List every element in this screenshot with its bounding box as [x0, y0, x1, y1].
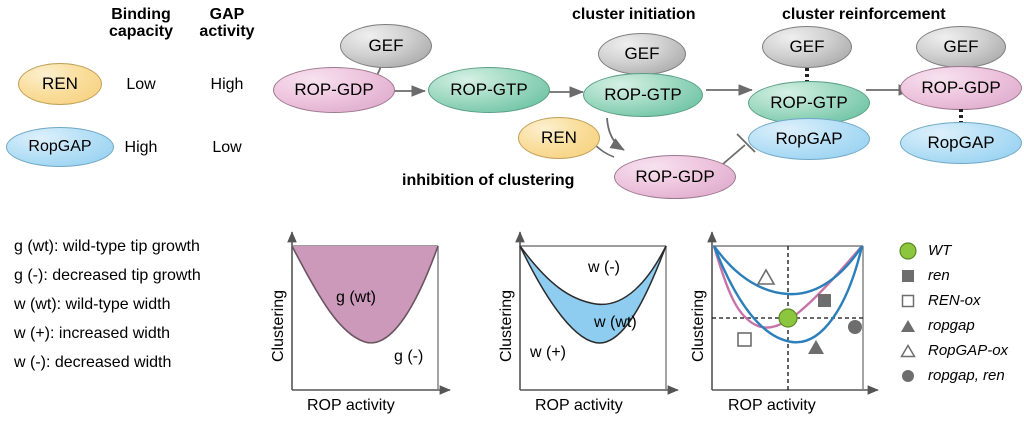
gef-label-4: GEF [944, 37, 979, 57]
gef-label-3: GEF [790, 37, 825, 57]
ropgap-ren-circle-icon [898, 366, 918, 386]
plot3-x-axis-label: ROP activity [728, 397, 816, 415]
gef-label-2: GEF [625, 44, 660, 64]
rop-gtp-ellipse: ROP-GTP [428, 67, 550, 113]
rop-gdp-label-1: ROP-GDP [294, 80, 373, 100]
legend-label-ropgap: ropgap [928, 317, 975, 334]
rop-gtp-label-3: ROP-GTP [770, 93, 847, 113]
rop-gdp-ellipse-inhibitor: ROP-GDP [614, 155, 736, 199]
phenotype-key-item: w (wt): wild-type width [14, 290, 201, 319]
plot1-x-axis-label: ROP activity [307, 397, 395, 415]
plot2-label-wwt: w (wt) [594, 314, 637, 332]
plot3-marker-ren [818, 294, 831, 307]
ropgap-ellipse-reinforcement: RopGAP [748, 118, 870, 160]
ropgap-triangle-icon [898, 316, 918, 336]
plot-2-width: w (-) w (wt) w (+) Clustering ROP activi… [478, 222, 698, 422]
legend-label-ropgap-ren: ropgap, ren [928, 367, 1005, 384]
plot3-marker-ropgap [808, 340, 824, 354]
rop-gtp-label-2: ROP-GTP [604, 85, 681, 105]
phenotype-key-item: w (-): decreased width [14, 348, 201, 377]
plot2-y-axis-label: Clustering [498, 290, 516, 362]
phenotype-key-item: g (wt): wild-type tip growth [14, 232, 201, 261]
gef-ellipse-initiation: GEF [598, 33, 686, 75]
plot3-marker-ropgap-ren [848, 320, 862, 334]
plot3-marker-wt [779, 309, 797, 327]
rop-gdp-ellipse-final: ROP-GDP [900, 66, 1022, 110]
legend-row-ropgap-ox: RopGAP-ox [898, 338, 1008, 363]
plot2-label-wplus: w (+) [530, 344, 566, 362]
rop-gdp-label-3: ROP-GDP [921, 78, 1000, 98]
wt-circle-icon [898, 241, 918, 261]
rop-gtp-ellipse-initiation: ROP-GTP [583, 73, 703, 117]
phenotype-key-item: w (+): increased width [14, 319, 201, 348]
plot1-label-gminus: g (-) [394, 348, 423, 366]
plot1-y-axis-label: Clustering [270, 290, 288, 362]
plot3-marker-ropgap-ox [758, 270, 774, 284]
gef-ellipse-reinforcement: GEF [762, 26, 852, 68]
rop-gtp-label-1: ROP-GTP [450, 80, 527, 100]
legend-row-ren-ox: REN-ox [898, 288, 1008, 313]
plot2-label-wminus: w (-) [588, 259, 620, 277]
ropgap-ox-triangle-open-icon [898, 341, 918, 361]
rop-gdp-label-2: ROP-GDP [635, 167, 714, 187]
phenotype-key: g (wt): wild-type tip growth g (-): decr… [14, 232, 201, 377]
plot3-y-axis-label: Clustering [690, 290, 708, 362]
ren-label-2: REN [541, 128, 577, 148]
legend-row-ropgap: ropgap [898, 313, 1008, 338]
legend-label-ropgap-ox: RopGAP-ox [928, 342, 1008, 359]
ren-square-icon [898, 266, 918, 286]
legend-label-wt: WT [928, 242, 951, 259]
plot3-marker-ren-ox [738, 333, 751, 346]
plot2-x-axis-label: ROP activity [535, 397, 623, 415]
genotype-legend: WT ren REN-ox ropgap RopGAP-ox ropgap, r… [898, 238, 1008, 388]
plot1-label-gwt: g (wt) [336, 289, 376, 307]
gef-label-1: GEF [369, 36, 404, 56]
rop-gdp-ellipse-start: ROP-GDP [273, 67, 395, 113]
legend-row-ren: ren [898, 263, 1008, 288]
gef-ellipse-final: GEF [916, 26, 1006, 68]
gef-ellipse-start: GEF [340, 24, 432, 68]
ropgap-label-2: RopGAP [775, 129, 842, 149]
arrow-gtp-hydrolysis [607, 118, 624, 150]
ren-ox-square-open-icon [898, 291, 918, 311]
ren-ellipse-pathway: REN [518, 117, 600, 159]
ropgap-label-3: RopGAP [927, 133, 994, 153]
legend-row-wt: WT [898, 238, 1008, 263]
legend-row-ropgap-ren: ropgap, ren [898, 363, 1008, 388]
plot-1-tip-growth: g (wt) g (-) Clustering ROP activity [250, 222, 470, 422]
legend-label-ren-ox: REN-ox [928, 292, 981, 309]
plot-3-genotypes: Clustering ROP activity [700, 222, 890, 422]
phenotype-key-item: g (-): decreased tip growth [14, 261, 201, 290]
legend-label-ren: ren [928, 267, 950, 284]
ropgap-ellipse-final: RopGAP [900, 122, 1022, 164]
